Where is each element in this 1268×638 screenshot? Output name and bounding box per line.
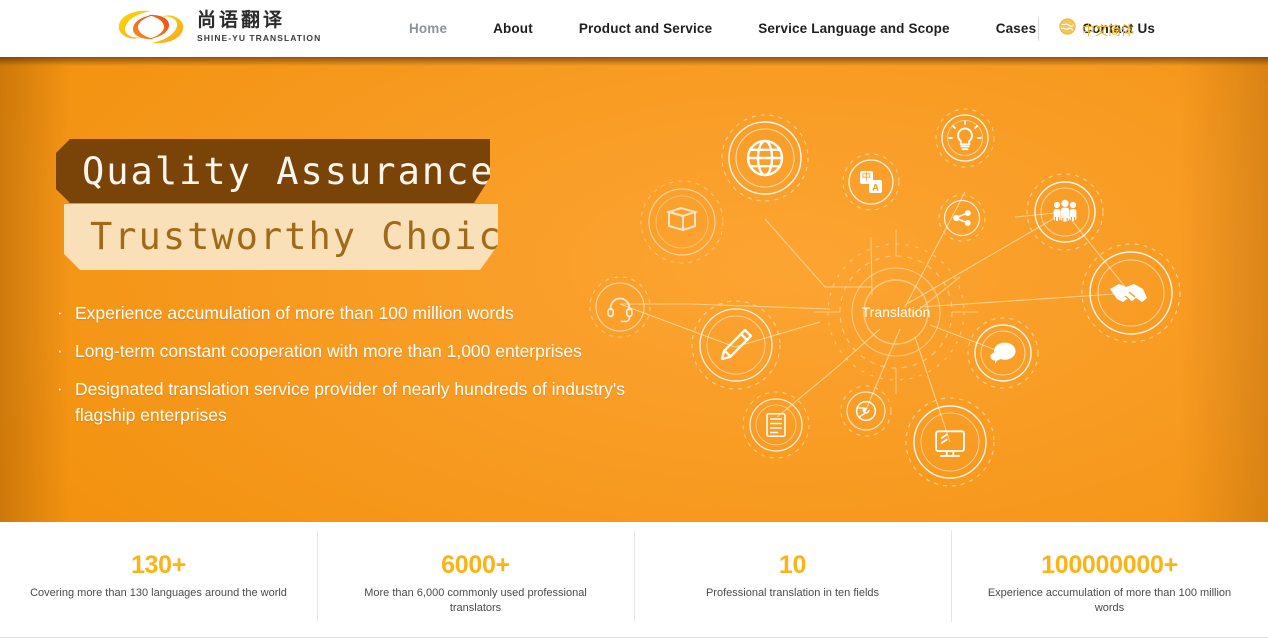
- globe-icon: [1059, 18, 1076, 40]
- hero-banner: 中 A: [0, 57, 1268, 522]
- headline-line-1: Quality Assurance: [56, 139, 490, 203]
- header-divider: [1038, 17, 1039, 41]
- stat-item: 130+ Covering more than 130 languages ar…: [0, 550, 317, 638]
- shineyu-swirl-logo-icon: [115, 6, 187, 48]
- site-logo[interactable]: 尚语翻译 SHINE-YU TRANSLATION: [115, 6, 321, 48]
- stat-number: 6000+: [343, 550, 608, 580]
- stat-number: 10: [660, 550, 925, 580]
- stat-item: 100000000+ Experience accumulation of mo…: [951, 550, 1268, 638]
- stat-description: Covering more than 130 languages around …: [26, 586, 291, 601]
- nav-item-home[interactable]: Home: [386, 21, 470, 36]
- hero-bullet-text: Experience accumulation of more than 100…: [75, 300, 514, 326]
- bullet-marker-icon: ·: [57, 300, 75, 326]
- translation-network-graphic: 中 A: [560, 57, 1268, 522]
- nav-item-product-and-service[interactable]: Product and Service: [556, 21, 735, 36]
- stats-bar: 130+ Covering more than 130 languages ar…: [0, 522, 1268, 638]
- site-header: 尚语翻译 SHINE-YU TRANSLATION Home About Pro…: [0, 0, 1268, 57]
- hero-headline: Quality Assurance Trustworthy Choice: [56, 139, 498, 270]
- logo-english-name: SHINE-YU TRANSLATION: [197, 33, 321, 43]
- stat-description: Professional translation in ten fields: [660, 586, 925, 601]
- hero-bullet-text: Designated translation service provider …: [75, 376, 635, 428]
- stat-number: 130+: [26, 550, 291, 580]
- headline-line-2: Trustworthy Choice: [64, 204, 498, 270]
- stat-item: 10 Professional translation in ten field…: [634, 550, 951, 638]
- stat-number: 100000000+: [977, 550, 1242, 580]
- stat-item: 6000+ More than 6,000 commonly used prof…: [317, 550, 634, 638]
- network-center-label: Translation: [862, 304, 931, 320]
- logo-chinese-name: 尚语翻译: [197, 11, 321, 31]
- nav-item-about[interactable]: About: [470, 21, 556, 36]
- bullet-marker-icon: ·: [57, 376, 75, 402]
- language-switcher[interactable]: 中文简体: [1059, 18, 1134, 40]
- hero-bullet-text: Long-term constant cooperation with more…: [75, 338, 582, 364]
- nav-item-service-language-and-scope[interactable]: Service Language and Scope: [735, 21, 972, 36]
- hero-bullet-item: · Long-term constant cooperation with mo…: [57, 338, 635, 364]
- stat-description: Experience accumulation of more than 100…: [977, 586, 1242, 616]
- hero-bullet-item: · Designated translation service provide…: [57, 376, 635, 428]
- bullet-marker-icon: ·: [57, 338, 75, 364]
- stat-description: More than 6,000 commonly used profession…: [343, 586, 608, 616]
- hero-bullet-item: · Experience accumulation of more than 1…: [57, 300, 635, 326]
- hero-bullet-list: · Experience accumulation of more than 1…: [57, 300, 635, 440]
- language-switcher-label: 中文简体: [1082, 20, 1134, 39]
- nav-item-cases[interactable]: Cases: [973, 21, 1060, 36]
